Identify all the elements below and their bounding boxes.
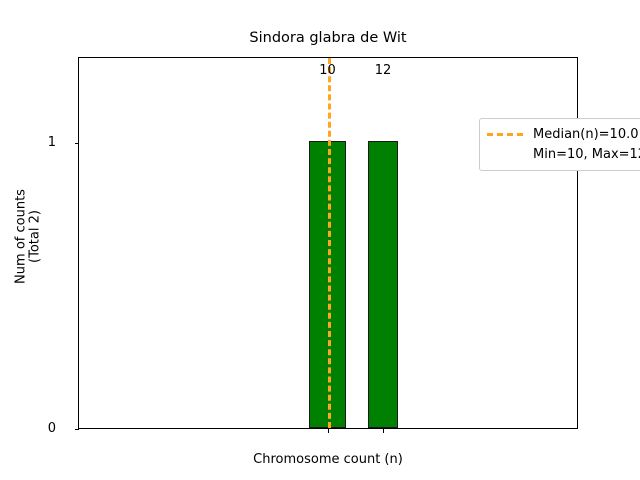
chart-title: Sindora glabra de Wit: [78, 30, 578, 46]
legend-entry-minmax: Min=10, Max=12: [487, 144, 640, 164]
bar-12: [368, 141, 398, 428]
legend-label-minmax: Min=10, Max=12: [533, 147, 640, 162]
legend-label-median: Median(n)=10.0: [533, 127, 639, 142]
y-axis-label: Num of counts (Total 2): [14, 97, 43, 377]
ytick-mark-1: [75, 143, 79, 144]
median-line: [328, 58, 331, 428]
xtick-mark-12: [383, 429, 384, 433]
xtick-label-10: 10: [319, 63, 336, 78]
legend-dashed-line-icon: [487, 133, 523, 136]
chart-figure: Sindora glabra de Wit 10 12 Median(n)=10…: [0, 0, 640, 480]
plot-area: 10 12 Median(n)=10.0 Min=10, Max=12: [78, 57, 578, 429]
ytick-label-1: 1: [48, 135, 56, 150]
y-axis-label-line2: (Total 2): [28, 97, 43, 377]
legend-entry-median: Median(n)=10.0: [487, 124, 640, 144]
xtick-mark-10: [328, 429, 329, 433]
ytick-mark-0: [75, 429, 79, 430]
y-axis-label-line1: Num of counts: [14, 97, 29, 377]
ytick-label-0: 0: [48, 421, 56, 436]
chart-legend: Median(n)=10.0 Min=10, Max=12: [479, 118, 640, 171]
xtick-label-12: 12: [375, 63, 392, 78]
x-axis-label: Chromosome count (n): [78, 452, 578, 467]
